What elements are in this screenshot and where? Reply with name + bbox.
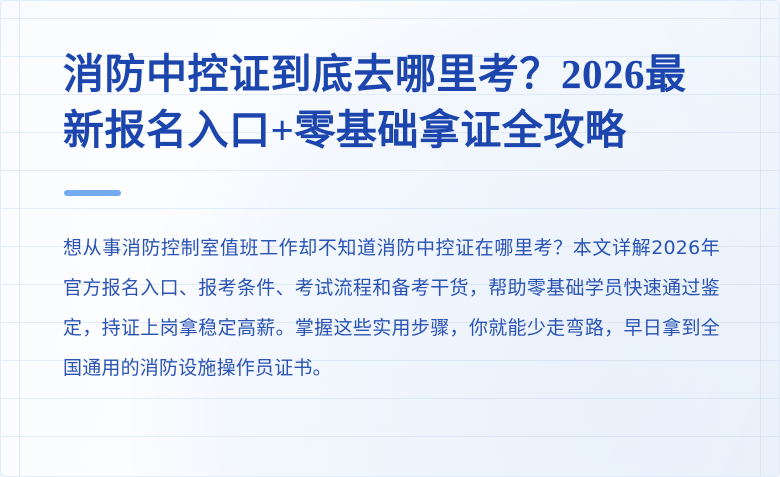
summary-paragraph: 想从事消防控制室值班工作却不知道消防中控证在哪里考？本文详解2026年官方报名入… [63,228,720,388]
article-cover-poster: 消防中控证到底去哪里考？2026最新报名入口+零基础拿证全攻略 想从事消防控制室… [0,0,780,477]
background-vertical-rule-right [760,0,761,477]
background-vertical-rule-left [19,0,20,477]
title-divider [64,190,121,196]
page-title: 消防中控证到底去哪里考？2026最新报名入口+零基础拿证全攻略 [63,46,720,158]
poster-content: 消防中控证到底去哪里考？2026最新报名入口+零基础拿证全攻略 想从事消防控制室… [63,0,720,477]
